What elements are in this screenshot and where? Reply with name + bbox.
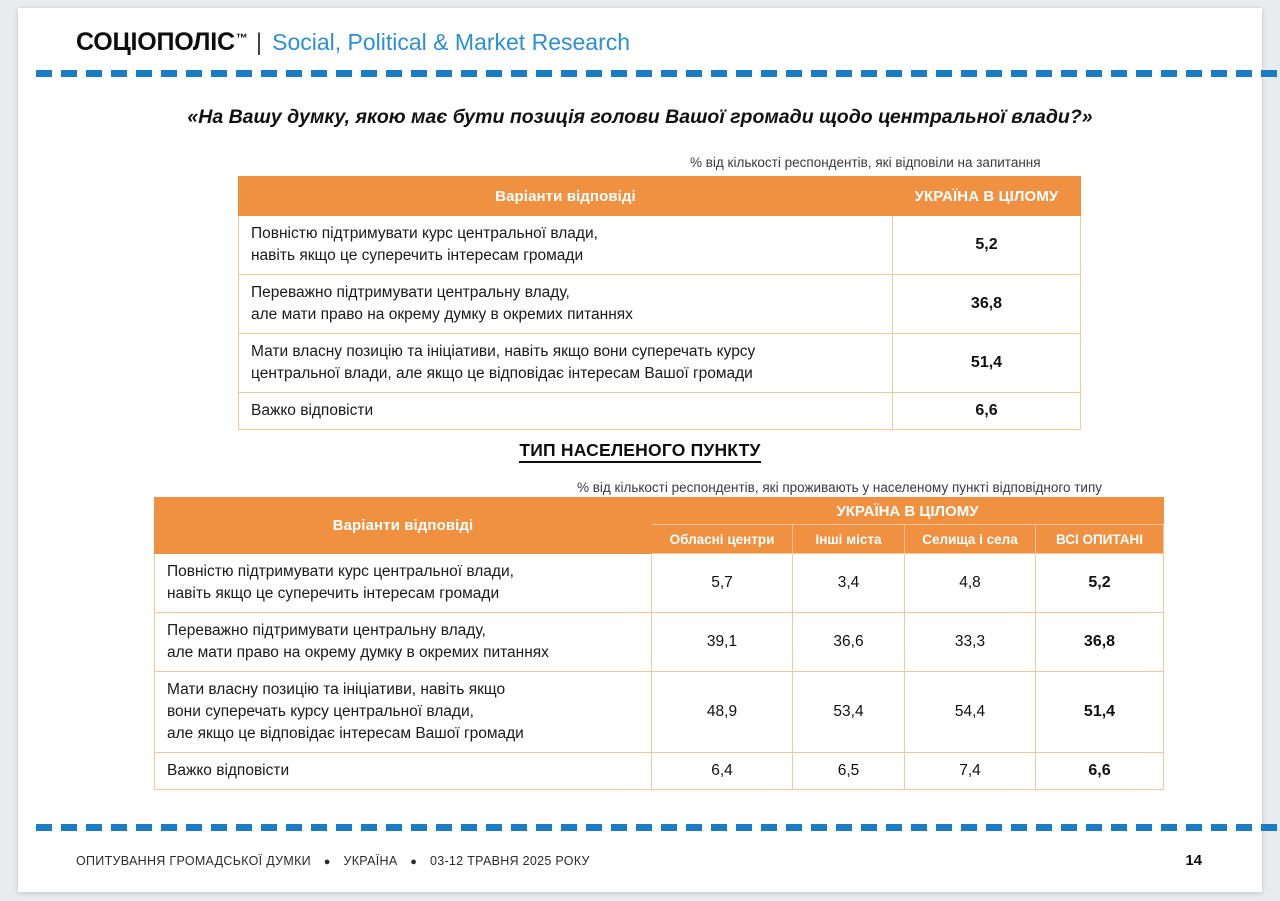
label-line: Мати власну позицію та ініціативи, навіт… (167, 679, 641, 701)
bullet-icon: ● (324, 856, 331, 868)
table1-row0-value: 5,2 (893, 216, 1081, 275)
table2-row1-col0: 39,1 (652, 613, 793, 672)
table2-row0-col2: 4,8 (905, 554, 1036, 613)
table2-row1-col2: 33,3 (905, 613, 1036, 672)
table-row: Повністю підтримувати курс центральної в… (155, 554, 1164, 613)
section-heading-text: ТИП НАСЕЛЕНОГО ПУНКТУ (519, 440, 760, 463)
label-line: Мати власну позицію та ініціативи, навіт… (251, 341, 882, 363)
table-row: Важко відповісти 6,4 6,5 7,4 6,6 (155, 753, 1164, 790)
label-line: але якщо це відповідає інтересам Вашої г… (167, 723, 641, 745)
table-row: Важко відповісти 6,6 (239, 393, 1081, 430)
table2-row0-label: Повністю підтримувати курс центральної в… (155, 554, 652, 613)
table-row: Мати власну позицію та ініціативи, навіт… (155, 672, 1164, 753)
table2-header-group-ukraine: УКРАЇНА В ЦІЛОМУ (652, 498, 1164, 525)
table-row: Переважно підтримувати центральну владу,… (155, 613, 1164, 672)
table2-row1-label: Переважно підтримувати центральну владу,… (155, 613, 652, 672)
table1-header-ukraine: УКРАЇНА В ЦІЛОМУ (893, 177, 1081, 216)
label-line: Повністю підтримувати курс центральної в… (251, 223, 882, 245)
brand-tagline: Social, Political & Market Research (272, 29, 630, 56)
table2-row3-col2: 7,4 (905, 753, 1036, 790)
table1-row0-label: Повністю підтримувати курс центральної в… (239, 216, 893, 275)
table2-header-group-row: Варіанти відповіді УКРАЇНА В ЦІЛОМУ (155, 498, 1164, 525)
table2-row3-col3: 6,6 (1036, 753, 1164, 790)
label-line: Повністю підтримувати курс центральної в… (167, 561, 641, 583)
table1-header-options: Варіанти відповіді (239, 177, 893, 216)
table-row: Переважно підтримувати центральну владу,… (239, 275, 1081, 334)
table1-row3-label: Важко відповісти (239, 393, 893, 430)
label-line: центральної влади, але якщо це відповіда… (251, 363, 882, 385)
label-line: Важко відповісти (251, 400, 882, 422)
table2-header-regional-centers: Обласні центри (652, 525, 793, 554)
table2-row2-col2: 54,4 (905, 672, 1036, 753)
table1-row3-value: 6,6 (893, 393, 1081, 430)
bullet-icon: ● (410, 856, 417, 868)
table2-row3-label: Важко відповісти (155, 753, 652, 790)
table2-row2-col0: 48,9 (652, 672, 793, 753)
table2-row3-col0: 6,4 (652, 753, 793, 790)
table2-header-all-respondents: ВСІ ОПИТАНІ (1036, 525, 1164, 554)
table2-row0-col1: 3,4 (793, 554, 905, 613)
footer-date-range: 03-12 ТРАВНЯ 2025 РОКУ (430, 854, 590, 868)
slide-page: СОЦІОПОЛІС ™ | Social, Political & Marke… (18, 8, 1262, 892)
label-line: але мати право на окрему думку в окремих… (167, 642, 641, 664)
table2-header-options: Варіанти відповіді (155, 498, 652, 554)
table1-row2-label: Мати власну позицію та ініціативи, навіт… (239, 334, 893, 393)
label-line: Переважно підтримувати центральну владу, (167, 620, 641, 642)
table-row: Мати власну позицію та ініціативи, навіт… (239, 334, 1081, 393)
footer-meta: ОПИТУВАННЯ ГРОМАДСЬКОЇ ДУМКИ ● УКРАЇНА ●… (76, 854, 590, 868)
table1-header-row: Варіанти відповіді УКРАЇНА В ЦІЛОМУ (239, 177, 1081, 216)
page-number: 14 (1185, 852, 1202, 869)
label-line: навіть якщо це суперечить інтересам гром… (167, 583, 641, 605)
divider-dashed-bottom (36, 824, 1280, 831)
table2-row3-col1: 6,5 (793, 753, 905, 790)
table1-row1-value: 36,8 (893, 275, 1081, 334)
table2-row0-col0: 5,7 (652, 554, 793, 613)
table-by-settlement-type: Варіанти відповіді УКРАЇНА В ЦІЛОМУ Обла… (154, 497, 1164, 790)
trademark-symbol: ™ (236, 31, 248, 45)
table2-row1-col3: 36,8 (1036, 613, 1164, 672)
page-title: «На Вашу думку, якою має бути позиція го… (18, 106, 1262, 129)
brand-header: СОЦІОПОЛІС ™ | Social, Political & Marke… (76, 28, 630, 57)
label-line: Важко відповісти (167, 760, 641, 782)
table-overall: Варіанти відповіді УКРАЇНА В ЦІЛОМУ Повн… (238, 176, 1081, 430)
table1-row2-value: 51,4 (893, 334, 1081, 393)
footer-country: УКРАЇНА (343, 854, 397, 868)
table2-row2-col3: 51,4 (1036, 672, 1164, 753)
table2-row2-col1: 53,4 (793, 672, 905, 753)
table1-row1-label: Переважно підтримувати центральну владу,… (239, 275, 893, 334)
brand-separator: | (256, 29, 262, 57)
slide-canvas: СОЦІОПОЛІС ™ | Social, Political & Marke… (0, 0, 1280, 901)
section-heading-settlement-type: ТИП НАСЕЛЕНОГО ПУНКТУ (18, 440, 1262, 461)
table2-header-other-cities: Інші міста (793, 525, 905, 554)
table-row: Повністю підтримувати курс центральної в… (239, 216, 1081, 275)
table2-row0-col3: 5,2 (1036, 554, 1164, 613)
label-line: вони суперечать курсу центральної влади, (167, 701, 641, 723)
table2-header-villages: Селища і села (905, 525, 1036, 554)
table2-note: % від кількості респондентів, які прожив… (577, 480, 1102, 495)
divider-dashed-top (36, 70, 1280, 77)
table1-note: % від кількості респондентів, які відпов… (690, 155, 1041, 170)
table2-row1-col1: 36,6 (793, 613, 905, 672)
label-line: але мати право на окрему думку в окремих… (251, 304, 882, 326)
table2-row2-label: Мати власну позицію та ініціативи, навіт… (155, 672, 652, 753)
footer-survey-label: ОПИТУВАННЯ ГРОМАДСЬКОЇ ДУМКИ (76, 854, 311, 868)
label-line: навіть якщо це суперечить інтересам гром… (251, 245, 882, 267)
label-line: Переважно підтримувати центральну владу, (251, 282, 882, 304)
brand-name: СОЦІОПОЛІС (76, 28, 235, 57)
